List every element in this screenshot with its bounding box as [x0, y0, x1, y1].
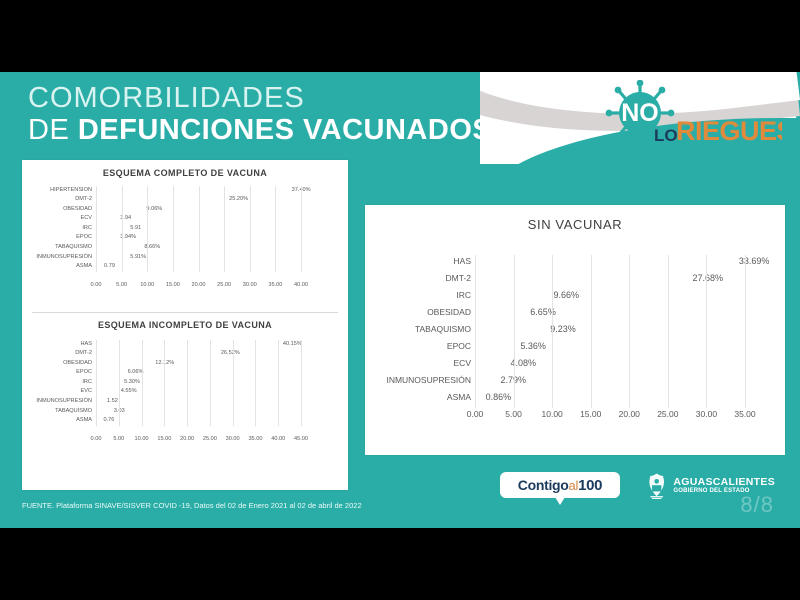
page-number: 8/8 — [740, 492, 774, 518]
x-axis-tick-label: 5.00 — [113, 436, 124, 442]
speech-bubble-tail — [555, 497, 565, 505]
bar-and-value: 3.94% — [96, 234, 340, 240]
x-axis-tick-label: 15.00 — [580, 409, 601, 419]
logo-word-lo: LO — [654, 126, 678, 145]
bar-value-label: 0.76 — [99, 417, 114, 423]
x-axis-tick-label: 35.00 — [734, 409, 755, 419]
bar-and-value: 25.20% — [96, 196, 340, 202]
no-lo-riegues-logo: NO LO RIEGUES — [592, 80, 782, 148]
bar-value-label: 2.79% — [497, 375, 527, 385]
bar-and-value: 4.08% — [475, 358, 771, 368]
chart-bar-row: OBESIDAD6.65% — [379, 306, 771, 317]
bar-category-label: IRC — [379, 290, 475, 300]
bar-value-label: 5.91 — [126, 225, 141, 231]
bar-category-label: ECV — [379, 358, 475, 368]
bar-and-value: 0.86% — [475, 392, 771, 402]
bar-category-label: TABAQUISMO — [30, 408, 96, 414]
chart-bar-row: HAS33.69% — [379, 255, 771, 266]
chart-esquema-completo: ESQUEMA COMPLETO DE VACUNA HIPERTENSION3… — [30, 168, 340, 308]
bar-category-label: ASMA — [30, 263, 96, 269]
bar-category-label: TABAQUISMO — [30, 244, 96, 250]
chart-bar-row: TABAQUISMO9.23% — [379, 323, 771, 334]
bar-category-label: INMUNOSUPRESIÓN — [379, 375, 475, 385]
source-note: FUENTE. Plataforma SINAVE/SISVER COVID -… — [22, 501, 362, 510]
bar-category-label: OBESIDAD — [30, 206, 96, 212]
chart-bar-row: ASMA0.76 — [30, 417, 340, 424]
bar-category-label: EVC — [30, 388, 96, 394]
x-axis-tick-label: 10.00 — [135, 436, 149, 442]
bar-value-label: 9.06% — [142, 206, 162, 212]
chart-bar-row: TABAQUISMO3.03 — [30, 407, 340, 414]
bar-and-value: 3.03 — [96, 408, 340, 414]
bar-and-value: 40.15% — [96, 341, 340, 347]
bar-and-value: 5.36% — [475, 341, 771, 351]
contigo-word-2: al — [569, 478, 579, 493]
x-axis-tick-label: 30.00 — [696, 409, 717, 419]
chart-plot-area: HIPERTENSION37.40%DMT-225.20%OBESIDAD9.0… — [30, 186, 340, 272]
page-title: COMORBILIDADES DE DEFUNCIONES VACUNADOS — [28, 84, 492, 145]
bar-value-label: 3.94% — [116, 234, 136, 240]
bar-value-label: 0.86% — [482, 392, 512, 402]
chart-x-axis: 0.005.0010.0015.0020.0025.0030.0035.0040… — [96, 282, 301, 292]
contigo-al-100-logo: Contigo al 100 — [500, 472, 620, 498]
bar-category-label: HAS — [379, 256, 475, 266]
bar-category-label: DMT-2 — [30, 350, 96, 356]
x-axis-tick-label: 25.00 — [203, 436, 217, 442]
bar-and-value: 1.52 — [96, 398, 340, 404]
x-axis-tick-label: 20.00 — [180, 436, 194, 442]
chart-bar-row: OBESIDAD9.06% — [30, 205, 340, 212]
left-charts-panel: ESQUEMA COMPLETO DE VACUNA HIPERTENSION3… — [22, 160, 348, 490]
x-axis-tick-label: 5.00 — [116, 282, 127, 288]
bar-category-label: IRC — [30, 225, 96, 231]
x-axis-tick-label: 20.00 — [619, 409, 640, 419]
letterbox-top — [0, 0, 800, 72]
bar-value-label: 33.69% — [735, 256, 770, 266]
chart-plot-area: HAS33.69%DMT-227.68%IRC9.66%OBESIDAD6.65… — [379, 255, 771, 408]
bar-and-value: 3.94 — [96, 215, 340, 221]
title-line-2: DE DEFUNCIONES VACUNADOS — [28, 116, 492, 145]
chart-bar-row: IRC5.30% — [30, 378, 340, 385]
bar-category-label: EPOC — [30, 369, 96, 375]
panel-divider — [32, 312, 338, 313]
bar-and-value: 5.91% — [96, 254, 340, 260]
bar-and-value: 9.23% — [475, 324, 771, 334]
chart-bar-row: DMT-226.52% — [30, 350, 340, 357]
bar-value-label: 0.79 — [100, 263, 115, 269]
x-axis-tick-label: 40.00 — [271, 436, 285, 442]
bar-and-value: 12.12% — [96, 360, 340, 366]
bar-value-label: 1.52 — [103, 398, 118, 404]
bar-value-label: 27.68% — [689, 273, 724, 283]
bar-category-label: INMUNOSUPRESIÓN — [30, 254, 96, 260]
bar-and-value: 0.76 — [96, 417, 340, 423]
x-axis-tick-label: 35.00 — [248, 436, 262, 442]
chart-bar-row: HIPERTENSION37.40% — [30, 186, 340, 193]
bar-and-value: 8.66% — [96, 244, 340, 250]
chart-x-axis: 0.005.0010.0015.0020.0025.0030.0035.00 — [475, 409, 745, 423]
title-line-1: COMORBILIDADES — [28, 84, 492, 113]
bar-value-label: 26.52% — [217, 350, 240, 356]
bar-value-label: 5.36% — [516, 341, 546, 351]
bar-category-label: DMT-2 — [379, 273, 475, 283]
x-axis-tick-label: 0.00 — [91, 436, 102, 442]
bar-category-label: TABAQUISMO — [379, 324, 475, 334]
bar-and-value: 33.69% — [475, 256, 771, 266]
contigo-word-1: Contigo — [518, 477, 569, 493]
bar-value-label: 4.55% — [117, 388, 137, 394]
bar-and-value: 9.06% — [96, 206, 340, 212]
chart-title: ESQUEMA COMPLETO DE VACUNA — [30, 168, 340, 178]
chart-bar-row: EPOC5.36% — [379, 340, 771, 351]
right-chart-panel: SIN VACUNAR HAS33.69%DMT-227.68%IRC9.66%… — [365, 205, 785, 455]
chart-bar-row: DMT-227.68% — [379, 272, 771, 283]
x-axis-tick-label: 35.00 — [268, 282, 282, 288]
x-axis-tick-label: 10.00 — [542, 409, 563, 419]
bar-and-value: 5.30% — [96, 379, 340, 385]
bar-and-value: 27.68% — [475, 273, 771, 283]
bar-category-label: EPOC — [379, 341, 475, 351]
contigo-word-3: 100 — [578, 477, 602, 494]
x-axis-tick-label: 10.00 — [140, 282, 154, 288]
x-axis-tick-label: 40.00 — [294, 282, 308, 288]
bar-and-value: 37.40% — [96, 187, 340, 193]
bar-value-label: 6.06% — [124, 369, 144, 375]
bar-value-label: 3.94 — [116, 215, 131, 221]
bar-category-label: OBESIDAD — [379, 307, 475, 317]
x-axis-tick-label: 15.00 — [157, 436, 171, 442]
bar-category-label: ASMA — [30, 417, 96, 423]
chart-x-axis: 0.005.0010.0015.0020.0025.0030.0035.0040… — [96, 436, 301, 446]
chart-bar-row: TABAQUISMO8.66% — [30, 244, 340, 251]
bar-and-value: 9.66% — [475, 290, 771, 300]
x-axis-tick-label: 30.00 — [243, 282, 257, 288]
slide-root: COMORBILIDADES DE DEFUNCIONES VACUNADOS — [0, 0, 800, 600]
bar-category-label: INMUNOSUPRESIÓN — [30, 398, 96, 404]
chart-bar-row: INMUNOSUPRESIÓN1.52 — [30, 398, 340, 405]
chart-sin-vacunar: SIN VACUNAR HAS33.69%DMT-227.68%IRC9.66%… — [379, 217, 771, 445]
bar-and-value: 6.65% — [475, 307, 771, 317]
bar-and-value: 2.79% — [475, 375, 771, 385]
chart-title: ESQUEMA INCOMPLETO DE VACUNA — [30, 320, 340, 330]
bar-value-label: 5.91% — [126, 254, 146, 260]
state-seal-icon — [645, 469, 668, 503]
bar-value-label: 37.40% — [288, 187, 311, 193]
chart-bar-row: ECV3.94 — [30, 215, 340, 222]
logo-word-riegues: RIEGUES — [676, 116, 782, 146]
bar-value-label: 40.15% — [279, 341, 302, 347]
x-axis-tick-label: 45.00 — [294, 436, 308, 442]
bar-and-value: 6.06% — [96, 369, 340, 375]
x-axis-tick-label: 0.00 — [91, 282, 102, 288]
bar-value-label: 8.66% — [140, 244, 160, 250]
bar-category-label: EPOC — [30, 234, 96, 240]
bar-value-label: 5.30% — [120, 379, 140, 385]
bar-category-label: HAS — [30, 341, 96, 347]
title-line-2-bold: DEFUNCIONES VACUNADOS — [78, 114, 492, 146]
x-axis-tick-label: 0.00 — [467, 409, 484, 419]
bar-and-value: 0.79 — [96, 263, 340, 269]
bar-value-label: 6.65% — [526, 307, 556, 317]
title-line-2-light: DE — [28, 114, 78, 146]
bar-and-value: 5.91 — [96, 225, 340, 231]
chart-title: SIN VACUNAR — [379, 217, 771, 232]
bar-category-label: IRC — [30, 379, 96, 385]
x-axis-tick-label: 30.00 — [226, 436, 240, 442]
chart-bar-row: OBESIDAD12.12% — [30, 359, 340, 366]
x-axis-tick-label: 20.00 — [192, 282, 206, 288]
bar-category-label: OBESIDAD — [30, 360, 96, 366]
logo-word-no: NO — [621, 99, 659, 127]
bar-value-label: 9.23% — [546, 324, 576, 334]
x-axis-tick-label: 25.00 — [217, 282, 231, 288]
bar-and-value: 4.55% — [96, 388, 340, 394]
chart-bar-row: EVC4.55% — [30, 388, 340, 395]
chart-bar-row: DMT-225.20% — [30, 196, 340, 203]
bar-value-label: 4.08% — [506, 358, 536, 368]
chart-plot-area: HAS40.15%DMT-226.52%OBESIDAD12.12%EPOC6.… — [30, 340, 340, 426]
bar-value-label: 3.03 — [110, 408, 125, 414]
bar-category-label: HIPERTENSION — [30, 187, 96, 193]
chart-bar-row: EPOC6.06% — [30, 369, 340, 376]
state-name: AGUASCALIENTES — [673, 477, 775, 488]
bar-value-label: 12.12% — [151, 360, 174, 366]
slide-stage: COMORBILIDADES DE DEFUNCIONES VACUNADOS — [0, 72, 800, 528]
bar-and-value: 26.52% — [96, 350, 340, 356]
chart-bar-row: ECV4.08% — [379, 357, 771, 368]
x-axis-tick-label: 15.00 — [166, 282, 180, 288]
bar-category-label: ECV — [30, 215, 96, 221]
chart-esquema-incompleto: ESQUEMA INCOMPLETO DE VACUNA HAS40.15%DM… — [30, 320, 340, 480]
x-axis-tick-label: 5.00 — [505, 409, 522, 419]
chart-bar-row: ASMA0.86% — [379, 391, 771, 402]
bar-value-label: 25.20% — [225, 196, 248, 202]
bar-value-label: 9.66% — [550, 290, 580, 300]
bar-category-label: ASMA — [379, 392, 475, 402]
chart-bar-row: ASMA0.79 — [30, 263, 340, 270]
chart-bar-row: INMUNOSUPRESIÓN5.91% — [30, 253, 340, 260]
chart-bar-row: IRC5.91 — [30, 224, 340, 231]
chart-bar-row: HAS40.15% — [30, 340, 340, 347]
chart-bar-row: EPOC3.94% — [30, 234, 340, 241]
letterbox-bottom — [0, 528, 800, 600]
chart-bar-row: INMUNOSUPRESIÓN2.79% — [379, 374, 771, 385]
x-axis-tick-label: 25.00 — [657, 409, 678, 419]
chart-bar-row: IRC9.66% — [379, 289, 771, 300]
bar-category-label: DMT-2 — [30, 196, 96, 202]
